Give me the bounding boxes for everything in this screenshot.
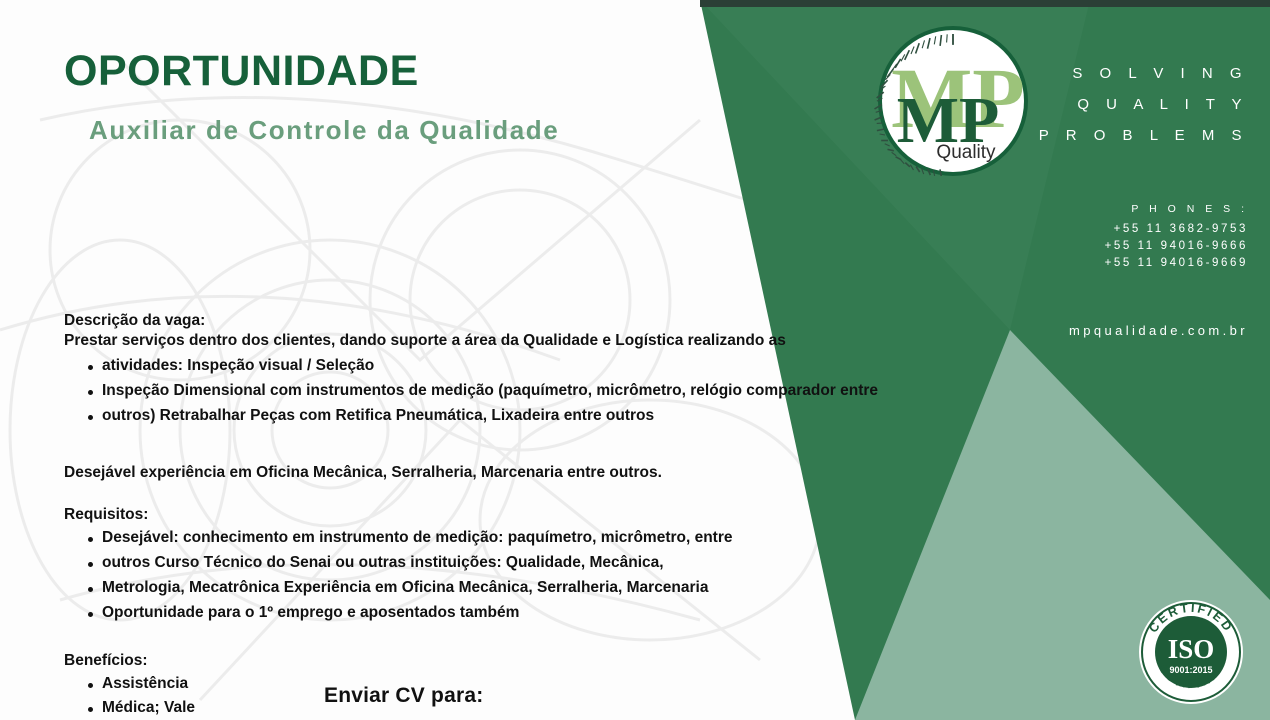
list-item: outros Curso Técnico do Senai ou outras … (64, 551, 960, 576)
mp-quality-logo: MP MP Quality (862, 24, 1044, 179)
benefits-heading: Benefícios: (64, 652, 314, 670)
contact-heading: Enviar CV para: (324, 684, 606, 708)
phones-label: P H O N E S : (1105, 203, 1248, 215)
page-title: OPORTUNIDADE (64, 50, 960, 93)
list-item: Metrologia, Mecatrônica Experiência em O… (64, 576, 960, 601)
benefits-section: Benefícios: Assistência Médica; Vale Ali… (64, 652, 314, 720)
description-heading: Descrição da vaga: (64, 312, 960, 330)
list-item: Assistência (64, 672, 314, 697)
requirements-section: Requisitos: Desejável: conhecimento em i… (64, 506, 960, 625)
description-note: Desejável experiência em Oficina Mecânic… (64, 462, 960, 484)
job-posting-poster: OPORTUNIDADE Auxiliar de Controle da Qua… (0, 0, 1270, 720)
description-intro: Prestar serviços dentro dos clientes, da… (64, 330, 960, 352)
main-content: OPORTUNIDADE Auxiliar de Controle da Qua… (0, 0, 960, 720)
slogan-line-2: Q U A L I T Y (1039, 89, 1248, 120)
contact-section: Enviar CV para: eduarda.rodrigues@mpqual… (324, 652, 606, 720)
list-item: Oportunidade para o 1º emprego e aposent… (64, 601, 960, 626)
phone-number[interactable]: +55 11 94016-9666 (1105, 238, 1248, 255)
description-section: Descrição da vaga: Prestar serviços dent… (64, 312, 960, 484)
description-list: atividades: Inspeção visual / Seleção In… (64, 354, 960, 428)
company-slogan: S O L V I N G Q U A L I T Y P R O B L E … (1039, 58, 1248, 151)
slogan-line-1: S O L V I N G (1039, 58, 1248, 89)
phone-number[interactable]: +55 11 3682-9753 (1105, 221, 1248, 238)
benefits-list: Assistência Médica; Vale Alimentação; VT… (64, 672, 314, 720)
phones-block: P H O N E S : +55 11 3682-9753 +55 11 94… (1105, 203, 1248, 272)
requirements-list: Desejável: conhecimento em instrumento d… (64, 526, 960, 625)
list-item: outros) Retrabalhar Peças com Retifica P… (64, 404, 960, 429)
requirements-heading: Requisitos: (64, 506, 960, 524)
logo-wordmark: Quality (936, 142, 996, 163)
list-item: Médica; Vale (64, 696, 314, 720)
list-item: Inspeção Dimensional com instrumentos de… (64, 379, 960, 404)
iso-center-text: ISO (1168, 634, 1215, 664)
slogan-line-3: P R O B L E M S (1039, 120, 1248, 151)
list-item: Desejável: conhecimento em instrumento d… (64, 526, 960, 551)
iso-standard-text: 9001:2015 (1169, 665, 1212, 675)
job-position-title: Auxiliar de Controle da Qualidade (89, 115, 960, 146)
website-url[interactable]: mpqualidade.com.br (1069, 323, 1248, 338)
list-item: atividades: Inspeção visual / Seleção (64, 354, 960, 379)
iso-certified-badge: CERTIFIED COMPANY ISO 9001:2015 (1137, 598, 1245, 706)
phone-number[interactable]: +55 11 94016-9669 (1105, 255, 1248, 272)
